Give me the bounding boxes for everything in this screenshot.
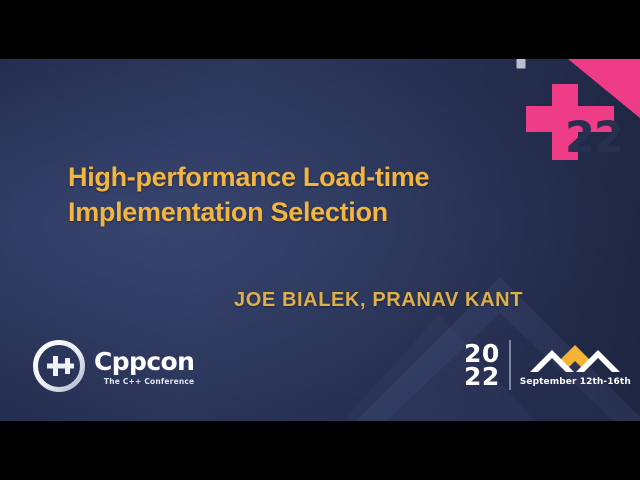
event-badge: 20 22 September 12th-16th: [464, 340, 631, 390]
letterbox-bar-top: [0, 0, 640, 59]
slide-title: High-performance Load-time Implementatio…: [68, 160, 538, 229]
letterbox-bar-bottom: [0, 421, 640, 480]
title-line-2: Implementation Selection: [68, 195, 538, 230]
cppcon-circle-mark-icon: [33, 340, 85, 392]
video-frame: 22 High-performance Load-time Implementa…: [0, 0, 640, 480]
title-line-1: High-performance Load-time: [68, 160, 538, 195]
event-year-stack: 20 22: [464, 342, 500, 389]
event-year-bottom: 22: [464, 365, 500, 389]
silver-plus-icon: [504, 59, 538, 69]
presentation-slide: 22 High-performance Load-time Implementa…: [0, 59, 640, 421]
badge-divider: [509, 340, 511, 390]
speaker-names: JOE BIALEK, PRANAV KANT: [234, 289, 523, 312]
cppcon-wordmark: Cppcon The C++ Conference: [94, 347, 194, 386]
mountain-peaks-icon: [527, 344, 623, 374]
corner-year-22: 22: [565, 117, 623, 160]
cppcon-tagline-text: The C++ Conference: [94, 377, 194, 386]
badge-right-group: September 12th-16th: [520, 344, 631, 387]
event-date-text: September 12th-16th: [520, 377, 631, 387]
cppcon-name-text: Cppcon: [94, 349, 194, 374]
cppcon-logo: Cppcon The C++ Conference: [33, 340, 194, 392]
